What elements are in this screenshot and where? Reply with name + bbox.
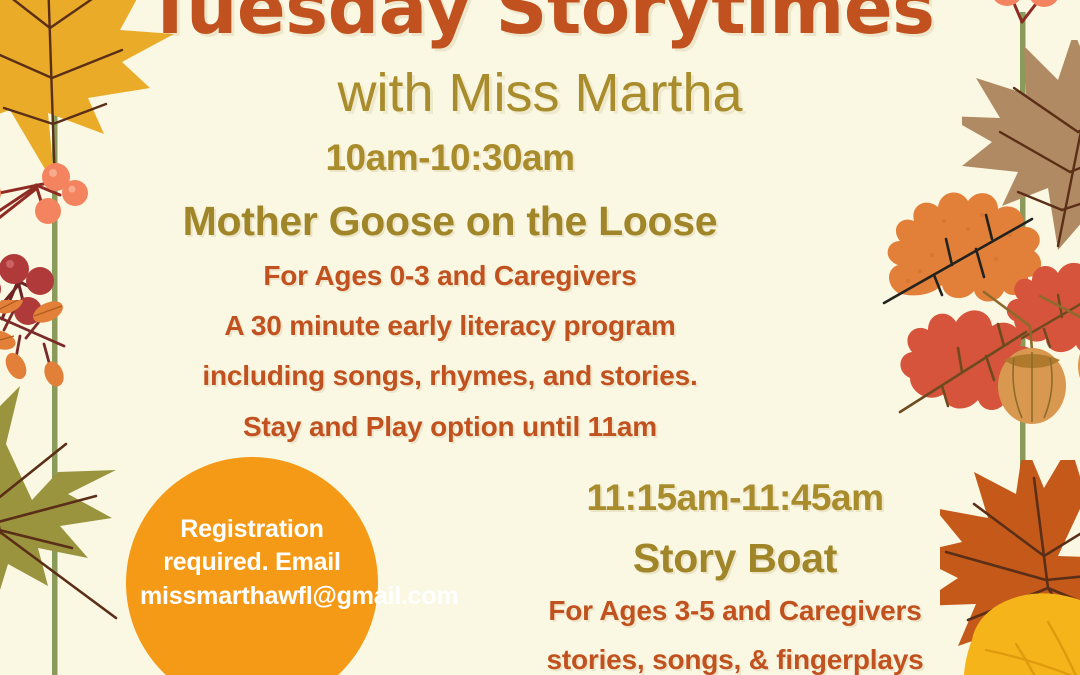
poster-content: Tuesday Storytimes with Miss Martha 10am… — [0, 0, 1080, 675]
session-2-name: Story Boat — [470, 535, 1000, 582]
session-2-time: 11:15am-11:45am — [470, 477, 1000, 519]
session-1-detail-line: including songs, rhymes, and stories. — [155, 360, 745, 392]
session-1-detail-line: For Ages 0-3 and Caregivers — [155, 260, 745, 292]
session-2-detail-line: For Ages 3-5 and Caregivers — [470, 595, 1000, 627]
session-1-detail-line: Stay and Play option until 11am — [155, 411, 745, 443]
session-1-time: 10am-10:30am — [155, 137, 745, 179]
page-subtitle: with Miss Martha — [0, 62, 1080, 124]
registration-text: Registration required. Email missmarthaw… — [140, 513, 364, 613]
session-1-detail-line: A 30 minute early literacy program — [155, 310, 745, 342]
storytime-poster: Tuesday Storytimes with Miss Martha 10am… — [0, 0, 1080, 675]
page-title: Tuesday Storytimes — [0, 0, 1080, 50]
session-2-detail-line: stories, songs, & fingerplays — [470, 644, 1000, 675]
session-1-name: Mother Goose on the Loose — [155, 198, 745, 245]
